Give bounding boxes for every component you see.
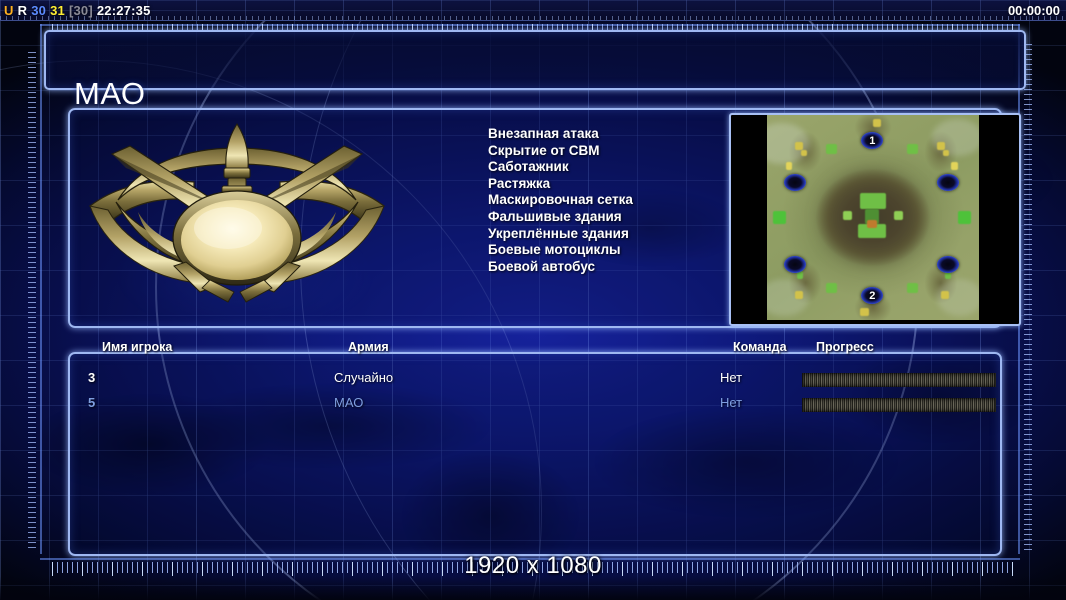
player-name: 3 — [88, 370, 95, 385]
status-value-yellow: 31 — [50, 3, 65, 18]
map-spawn-marker-3 — [937, 174, 959, 191]
map-prop — [873, 119, 881, 127]
status-prefix-u: U — [4, 3, 14, 18]
status-value-gray: [30] — [69, 3, 93, 18]
map-spawn-marker-1: 1 — [861, 132, 883, 149]
map-prop — [951, 162, 957, 170]
map-prop — [907, 144, 918, 154]
map-prop — [826, 144, 837, 154]
faction-ability-list: Внезапная атака Скрытие от СВМ Саботажни… — [488, 126, 633, 275]
player-team[interactable]: Нет — [720, 395, 742, 410]
player-progress-bar — [802, 373, 996, 387]
status-value-blue: 30 — [31, 3, 46, 18]
map-preview-image: 1 2 — [767, 115, 979, 320]
player-name: 5 — [88, 395, 95, 410]
faction-emblem-icon — [82, 116, 392, 316]
map-prop — [795, 291, 803, 299]
ability-item: Укреплённые здания — [488, 226, 633, 243]
map-prop — [773, 211, 786, 223]
column-header-army: Армия — [348, 340, 389, 354]
player-list-panel: 3 Случайно Нет 5 МАО Нет — [68, 352, 1002, 556]
resolution-label: 1920 x 1080 — [0, 552, 1066, 580]
map-prop — [958, 211, 971, 223]
spawn-label: 2 — [869, 290, 875, 302]
gla-faction-emblem — [82, 116, 392, 316]
map-spawn-marker-2 — [784, 174, 806, 191]
map-prop — [867, 220, 878, 228]
player-army[interactable]: Случайно — [334, 370, 393, 385]
top-status-bar: U R 30 31 [30] 22:27:35 00:00:00 — [0, 0, 1066, 21]
table-row[interactable]: 5 МАО Нет — [80, 395, 990, 419]
ability-item: Боевой автобус — [488, 259, 633, 276]
status-prefix-r: R — [18, 3, 28, 18]
rail-line-left — [40, 24, 42, 554]
page-title: МАО — [74, 76, 145, 112]
ability-item: Фальшивые здания — [488, 209, 633, 226]
column-header-team: Команда — [733, 340, 787, 354]
player-team[interactable]: Нет — [720, 370, 742, 385]
table-row[interactable]: 3 Случайно Нет — [80, 370, 990, 394]
terrain-blotch — [767, 279, 809, 316]
map-prop — [860, 193, 885, 209]
ability-item: Растяжка — [488, 176, 633, 193]
terrain-blotch — [767, 123, 809, 164]
faction-info-panel: Внезапная атака Скрытие от СВМ Саботажни… — [68, 108, 1002, 328]
map-prop — [941, 291, 949, 299]
map-spawn-marker-5 — [937, 256, 959, 273]
player-table-headers: Имя игрока Армия Команда Прогресс — [88, 340, 1028, 358]
ability-item: Саботажник — [488, 159, 633, 176]
map-prop — [860, 308, 868, 316]
player-army[interactable]: МАО — [334, 395, 363, 410]
spawn-label: 1 — [869, 135, 875, 147]
status-bar-clock: 00:00:00 — [1008, 1, 1060, 19]
ability-item: Скрытие от СВМ — [488, 143, 633, 160]
column-header-progress: Прогресс — [816, 340, 874, 354]
title-bar — [44, 30, 1026, 90]
map-spawn-marker-6: 2 — [861, 287, 883, 304]
map-prop — [843, 211, 851, 219]
map-prop — [801, 150, 807, 156]
lobby-frame: МАО — [44, 30, 1026, 566]
status-bar-ticks — [0, 16, 1066, 20]
ability-item: Маскировочная сетка — [488, 192, 633, 209]
ruler-left — [28, 52, 36, 552]
status-session-time: 22:27:35 — [97, 3, 151, 18]
map-prop — [894, 211, 902, 219]
status-bar-left-group: U R 30 31 [30] 22:27:35 — [4, 1, 155, 19]
map-preview-thumbnail: 1 2 — [729, 113, 1021, 326]
map-prop — [937, 142, 945, 150]
game-loading-screen: U R 30 31 [30] 22:27:35 00:00:00 МАО — [0, 0, 1066, 600]
terrain-blotch — [932, 119, 979, 156]
ability-item: Внезапная атака — [488, 126, 633, 143]
ability-item: Боевые мотоциклы — [488, 242, 633, 259]
map-prop — [943, 150, 949, 156]
column-header-name: Имя игрока — [102, 340, 172, 354]
player-progress-bar — [802, 398, 996, 412]
map-prop — [795, 142, 803, 150]
map-prop — [826, 283, 837, 293]
map-prop — [907, 283, 918, 293]
map-prop — [786, 162, 792, 170]
